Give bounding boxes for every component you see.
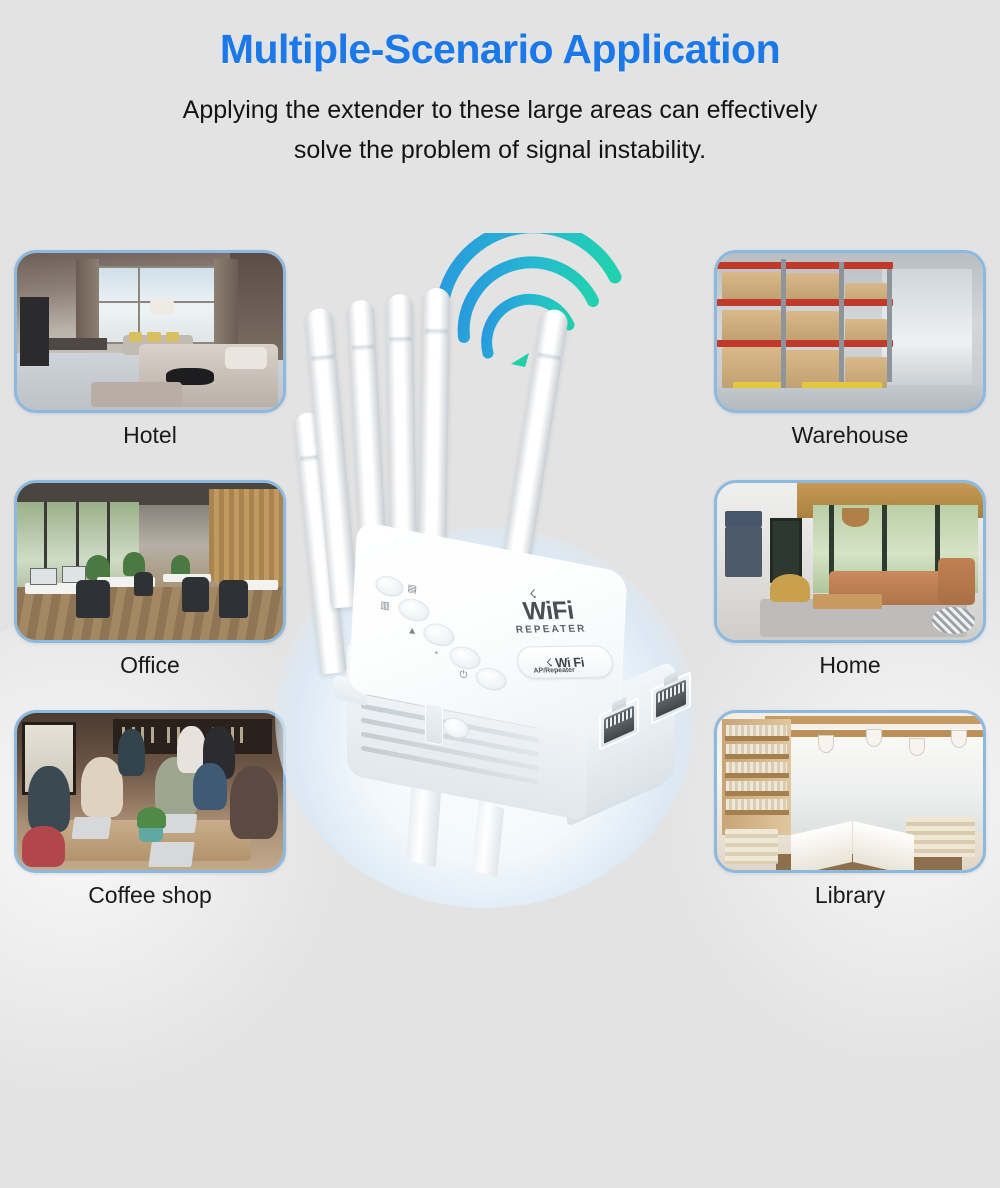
scenario-image-frame-hotel: [14, 250, 286, 413]
header: Multiple-Scenario Application Applying t…: [0, 26, 1000, 170]
led-wifi: [449, 644, 481, 672]
home-living-room-image: [717, 483, 983, 640]
subtitle-line-2: solve the problem of signal instability.: [80, 131, 920, 171]
scenario-card-warehouse[interactable]: Warehouse: [714, 250, 986, 447]
led-power: [475, 665, 507, 693]
scenario-label-office: Office: [14, 654, 286, 677]
scenario-label-coffee-shop: Coffee shop: [14, 884, 286, 907]
scenario-label-home: Home: [714, 654, 986, 677]
scenario-label-library: Library: [714, 884, 986, 907]
wifi-icon: ◔: [432, 649, 439, 660]
product-branding: ☇ WiFi REPEATER: [510, 589, 588, 636]
wps-button-slot[interactable]: [425, 702, 443, 745]
brand-name: WiFi: [511, 599, 585, 624]
scenario-card-home[interactable]: Home: [714, 480, 986, 677]
scenario-image-frame-coffee-shop: [14, 710, 286, 873]
coffee-shop-image: [17, 713, 283, 870]
subtitle-line-1: Applying the extender to these large are…: [80, 91, 920, 131]
lan-port-icon: ▤: [407, 584, 417, 596]
office-image: [17, 483, 283, 640]
scenario-image-frame-home: [714, 480, 986, 643]
wifi-repeater-product-image: ▤ ▥ ▲ ◔ ⏻ ☇ WiFi REPEATER ☇ Wi Fi AP/Rep…: [255, 228, 725, 918]
brand-subtitle: REPEATER: [515, 624, 587, 636]
sticker-subtitle: AP/Repeater: [533, 667, 575, 675]
hotel-room-image: [17, 253, 283, 410]
scenario-image-frame-office: [14, 480, 286, 643]
signal-bars-icon: ▲: [407, 626, 417, 638]
scenario-label-warehouse: Warehouse: [714, 424, 986, 447]
scenario-card-office[interactable]: Office: [14, 480, 286, 677]
wifi-signal-waves-icon: [433, 233, 623, 368]
scenario-card-library[interactable]: Library: [714, 710, 986, 907]
wifi-ap-repeater-sticker: ☇ Wi Fi AP/Repeater: [515, 645, 615, 679]
scenario-label-hotel: Hotel: [14, 424, 286, 447]
scenario-image-frame-warehouse: [714, 250, 986, 413]
power-icon: ⏻: [459, 670, 467, 681]
scenario-card-hotel[interactable]: Hotel: [14, 250, 286, 447]
scenario-image-frame-library: [714, 710, 986, 873]
router-body: ▤ ▥ ▲ ◔ ⏻ ☇ WiFi REPEATER ☇ Wi Fi AP/Rep…: [317, 528, 647, 858]
led-wan: [398, 596, 430, 624]
scenario-card-coffee-shop[interactable]: Coffee shop: [14, 710, 286, 907]
page-subtitle: Applying the extender to these large are…: [80, 91, 920, 170]
warehouse-image: [717, 253, 983, 410]
library-image: [717, 713, 983, 870]
page-title: Multiple-Scenario Application: [0, 26, 1000, 73]
wan-port-icon: ▥: [380, 601, 390, 613]
led-signal: [423, 621, 455, 649]
